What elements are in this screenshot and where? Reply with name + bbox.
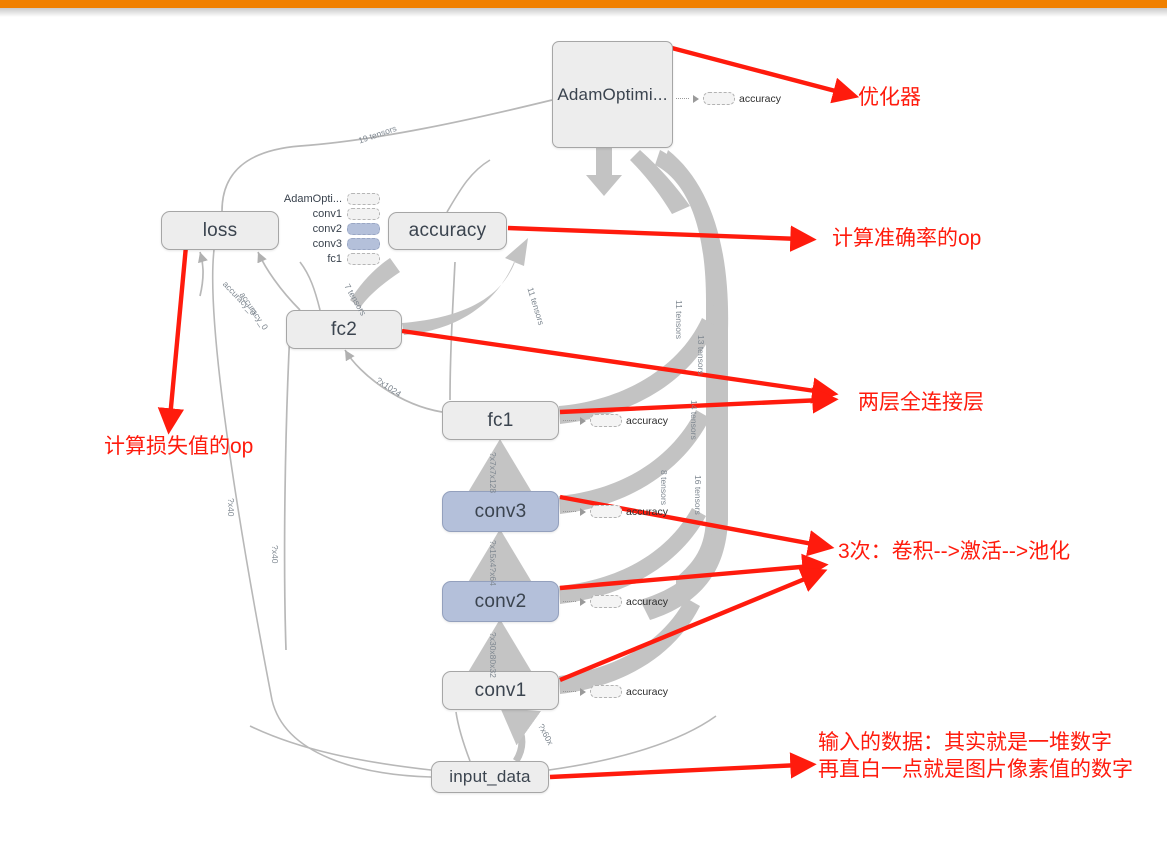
annotation-node-accuracy[interactable]: accuracy [563,685,668,698]
arrow-head-icon [580,508,586,516]
legend-item[interactable]: conv1 [280,206,380,221]
legend-swatch [347,238,380,250]
graph-node-conv1[interactable]: conv1 [442,671,559,710]
arrow-loss [170,246,186,418]
node-label: conv1 [475,680,527,702]
graph-node-fc2[interactable]: fc2 [286,310,402,349]
legend-swatch [347,193,380,205]
edge-label: ?x40 [226,498,236,516]
edge-label: 16 tensors [693,475,703,515]
legend-label: AdamOpti... [284,193,342,205]
graph-node-adamoptimizer[interactable]: AdamOptimi... [552,41,673,148]
annotation-node-accuracy[interactable]: accuracy [563,414,668,427]
annotation-accuracy-op: 计算准确率的op [832,226,981,253]
annotation-fc-layers: 两层全连接层 [858,390,984,417]
node-label: conv2 [475,591,527,613]
annotation-optimizer: 优化器 [858,85,921,112]
edge-label: 11 tensors [674,300,684,339]
arrow-head-icon [693,95,699,103]
annotation-node-label: accuracy [626,506,668,518]
edge-label: 8 tensors [659,470,669,505]
legend-item[interactable]: conv3 [280,236,380,251]
legend-swatch [347,208,380,220]
graph-node-loss[interactable]: loss [161,211,279,250]
dotted-line-icon [563,601,576,602]
dotted-line-icon [563,691,576,692]
legend-label: conv3 [313,238,342,250]
arrow-head-icon [580,688,586,696]
edge-label: 13 tensors [696,335,706,375]
legend-label: conv1 [313,208,342,220]
edge-label: ?x40 [270,545,280,563]
edge-label: ?x30x80x32 [488,632,498,678]
dashed-pill-icon [590,595,622,608]
node-label: loss [203,220,238,242]
arrow-fc2 [402,331,822,392]
legend-swatch [347,253,380,265]
node-label: fc2 [331,319,357,341]
arrow-accuracy-op [508,228,800,239]
legend-label: conv2 [313,223,342,235]
graph-node-conv3[interactable]: conv3 [442,491,559,532]
annotation-node-label: accuracy [626,686,668,698]
edge-label: ?x7x7x128 [488,452,498,493]
annotation-node-accuracy[interactable]: accuracy [563,505,668,518]
dotted-line-icon [676,98,689,99]
graph-node-input-data[interactable]: input_data [431,761,549,793]
legend-item[interactable]: conv2 [280,221,380,236]
dashed-pill-icon [590,685,622,698]
node-label: accuracy [409,220,487,242]
dotted-line-icon [563,511,576,512]
arrow-head-icon [580,417,586,425]
dashed-pill-icon [590,414,622,427]
node-label: AdamOptimi... [557,85,667,105]
edge-label: 14 tensors [689,400,699,440]
annotation-loss-op: 计算损失值的op [104,434,253,461]
graph-node-fc1[interactable]: fc1 [442,401,559,440]
dotted-line-icon [563,420,576,421]
node-label: fc1 [488,410,514,432]
annotation-node-label: accuracy [739,93,781,105]
tensorboard-graph-screenshot: AdamOptimi... loss accuracy fc2 fc1 conv… [0,0,1167,849]
annotation-conv-block: 3次：卷积-->激活-->池化 [838,539,1070,566]
annotation-node-accuracy[interactable]: accuracy [563,595,668,608]
annotation-node-label: accuracy [626,596,668,608]
edge-label: ?x15x4?x64 [488,540,498,586]
graph-node-conv2[interactable]: conv2 [442,581,559,622]
dashed-pill-icon [590,505,622,518]
legend-item[interactable]: fc1 [280,251,380,266]
arrow-input-data [550,765,800,777]
annotation-node-label: accuracy [626,415,668,427]
annotation-node-accuracy[interactable]: accuracy [676,92,781,105]
arrow-optimizer [668,47,843,93]
node-label: input_data [449,767,530,787]
legend-item[interactable]: AdamOpti... [280,191,380,206]
legend-swatch [347,223,380,235]
node-label: conv3 [475,501,527,523]
graph-node-accuracy[interactable]: accuracy [388,212,507,250]
legend-label: fc1 [327,253,342,265]
annotation-input-desc: 输入的数据：其实就是一堆数字 再直白一点就是图片像素值的数字 [818,730,1133,784]
graph-legend: AdamOpti... conv1 conv2 conv3 fc1 [280,191,380,266]
arrow-head-icon [580,598,586,606]
dashed-pill-icon [703,92,735,105]
